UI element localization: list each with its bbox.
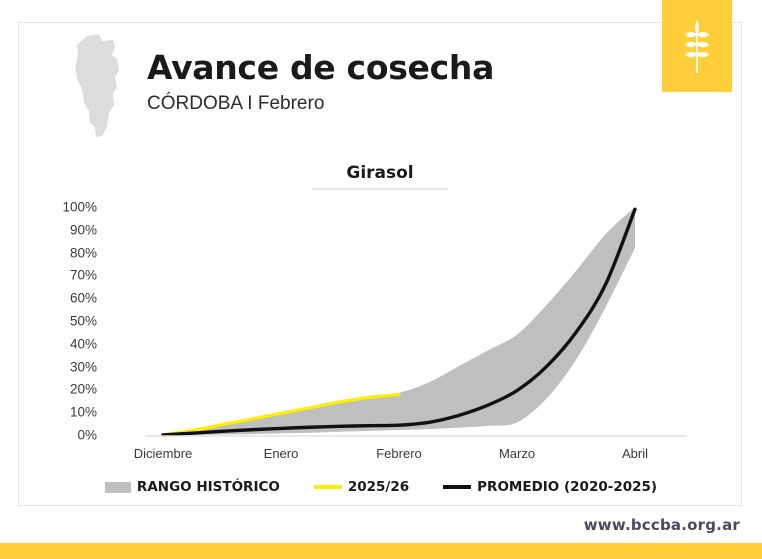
- legend-label: PROMEDIO (2020-2025): [477, 479, 657, 495]
- legend-item[interactable]: RANGO HISTÓRICO: [105, 479, 280, 495]
- x-axis-tick: Enero: [264, 446, 299, 461]
- legend-band-swatch: [105, 482, 131, 493]
- legend-item[interactable]: PROMEDIO (2020-2025): [443, 479, 657, 495]
- wheat-stalk-icon: [682, 18, 712, 74]
- historic-range-band: [163, 207, 635, 435]
- x-axis-tick: Febrero: [376, 446, 422, 461]
- report-card: Avance de cosecha CÓRDOBA I Febrero Gira…: [18, 22, 742, 506]
- legend-item[interactable]: 2025/26: [314, 479, 409, 495]
- chart-legend: RANGO HISTÓRICO2025/26PROMEDIO (2020-202…: [19, 479, 743, 495]
- bccba-logo-badge: [662, 0, 732, 92]
- bottom-accent-bar: [0, 543, 762, 559]
- chart-plot-area: 100%90%80%70%60%50%40%30%20%10%0% Diciem…: [19, 23, 743, 507]
- website-url: www.bccba.org.ar: [584, 516, 740, 534]
- legend-line-swatch: [314, 485, 342, 489]
- x-axis-tick: Diciembre: [134, 446, 193, 461]
- x-axis-tick: Marzo: [499, 446, 535, 461]
- legend-line-swatch: [443, 485, 471, 489]
- chart-canvas: [19, 23, 743, 507]
- legend-label: 2025/26: [348, 479, 409, 495]
- x-axis-labels: DiciembreEneroFebreroMarzoAbril: [19, 446, 743, 468]
- legend-label: RANGO HISTÓRICO: [137, 479, 280, 495]
- x-axis-tick: Abril: [622, 446, 648, 461]
